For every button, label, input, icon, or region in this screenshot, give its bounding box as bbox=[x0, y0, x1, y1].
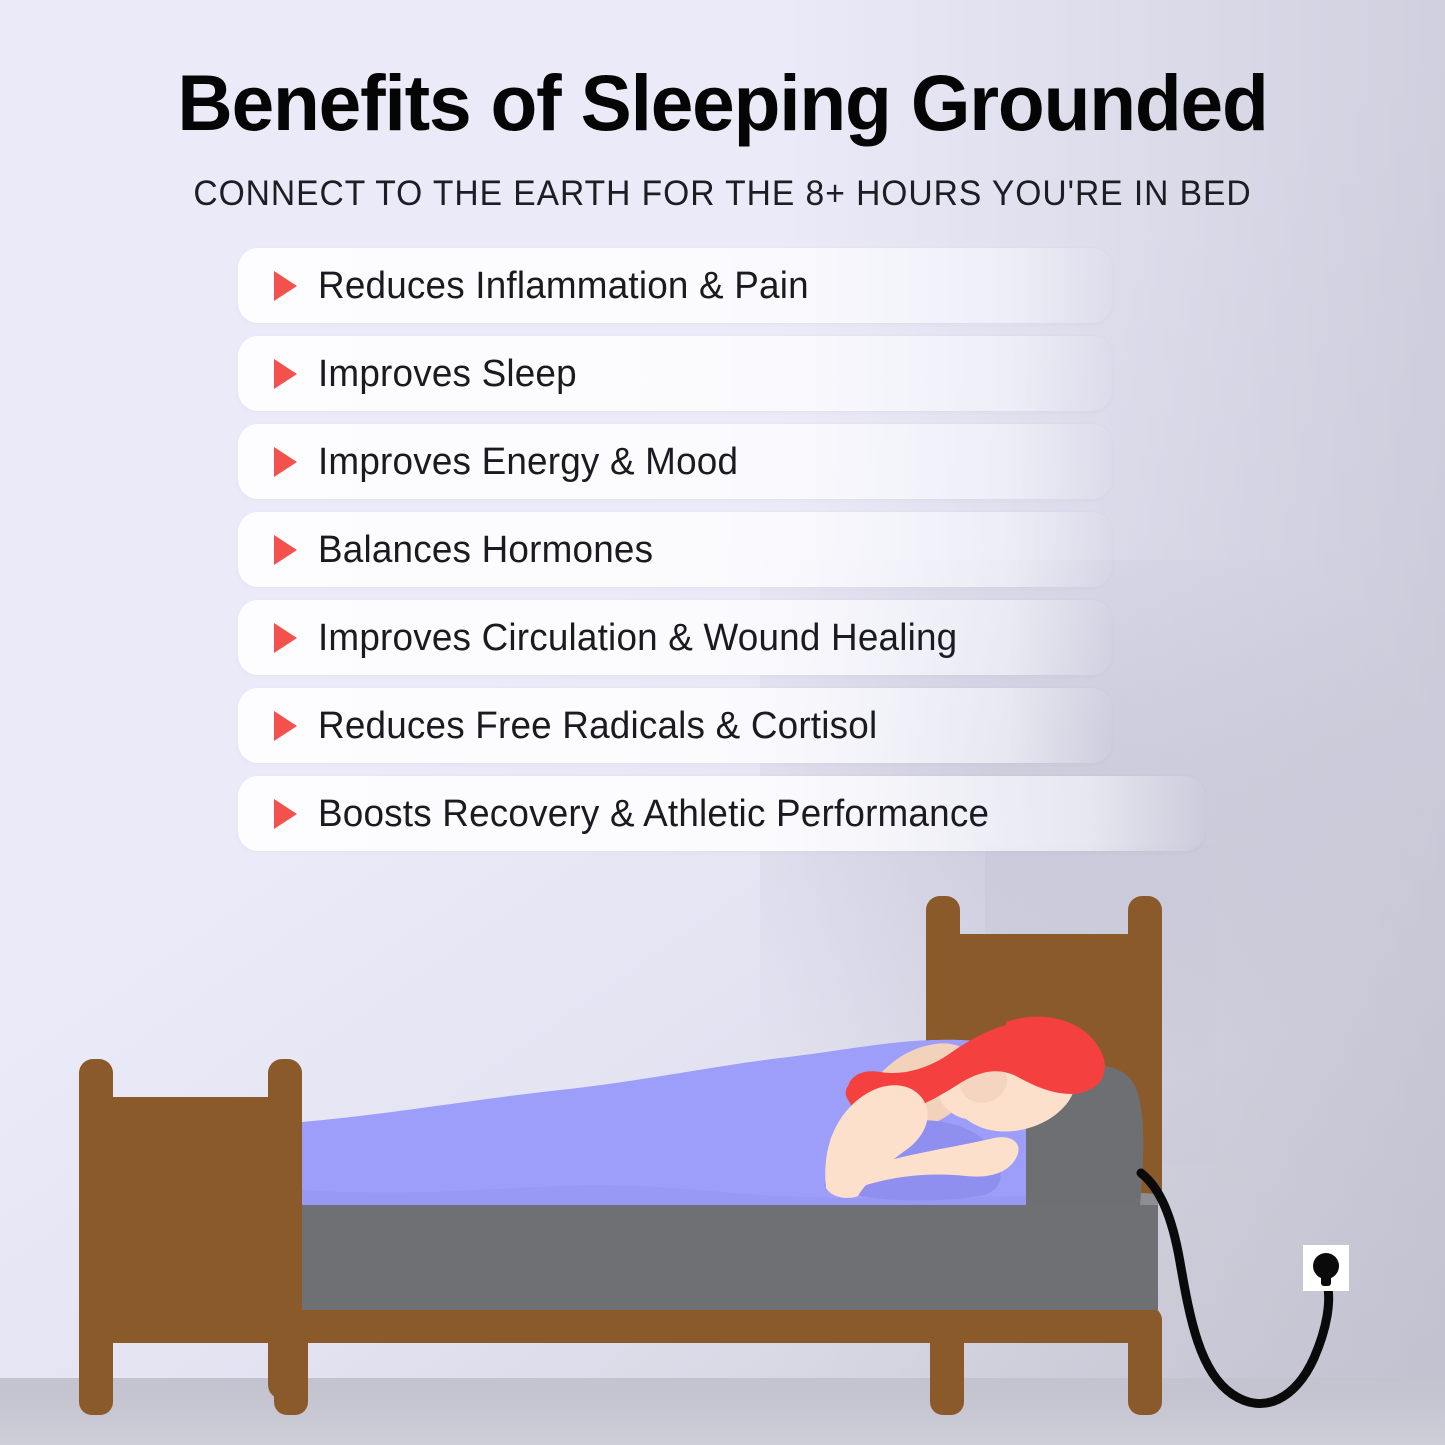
list-item[interactable]: Boosts Recovery & Athletic Performance bbox=[238, 776, 1205, 851]
list-item[interactable]: Reduces Inflammation & Pain bbox=[238, 248, 1112, 323]
floor bbox=[0, 1378, 1445, 1445]
triangle-right-icon bbox=[274, 623, 297, 653]
triangle-right-icon bbox=[274, 359, 297, 389]
list-item-label: Improves Circulation & Wound Healing bbox=[318, 616, 957, 660]
list-item[interactable]: Improves Sleep bbox=[238, 336, 1112, 411]
triangle-right-icon bbox=[274, 535, 297, 565]
benefits-list: Reduces Inflammation & Pain Improves Sle… bbox=[238, 248, 1228, 864]
triangle-right-icon bbox=[274, 799, 297, 829]
list-item[interactable]: Balances Hormones bbox=[238, 512, 1112, 587]
triangle-right-icon bbox=[274, 447, 297, 477]
page-subtitle: CONNECT TO THE EARTH FOR THE 8+ HOURS YO… bbox=[29, 172, 1416, 216]
list-item-label: Reduces Free Radicals & Cortisol bbox=[318, 704, 877, 748]
list-item-label: Balances Hormones bbox=[318, 528, 653, 572]
list-item-label: Improves Energy & Mood bbox=[318, 440, 738, 484]
list-item[interactable]: Improves Energy & Mood bbox=[238, 424, 1112, 499]
list-item-label: Improves Sleep bbox=[318, 352, 577, 396]
list-item-label: Boosts Recovery & Athletic Performance bbox=[318, 792, 989, 836]
header: Benefits of Sleeping Grounded CONNECT TO… bbox=[0, 58, 1445, 216]
background-wall-band bbox=[985, 845, 1215, 1165]
list-item-label: Reduces Inflammation & Pain bbox=[318, 264, 809, 308]
list-item[interactable]: Improves Circulation & Wound Healing bbox=[238, 600, 1112, 675]
triangle-right-icon bbox=[274, 711, 297, 741]
list-item[interactable]: Reduces Free Radicals & Cortisol bbox=[238, 688, 1112, 763]
triangle-right-icon bbox=[274, 271, 297, 301]
infographic-poster: Benefits of Sleeping Grounded CONNECT TO… bbox=[0, 0, 1445, 1445]
page-title: Benefits of Sleeping Grounded bbox=[22, 58, 1424, 148]
